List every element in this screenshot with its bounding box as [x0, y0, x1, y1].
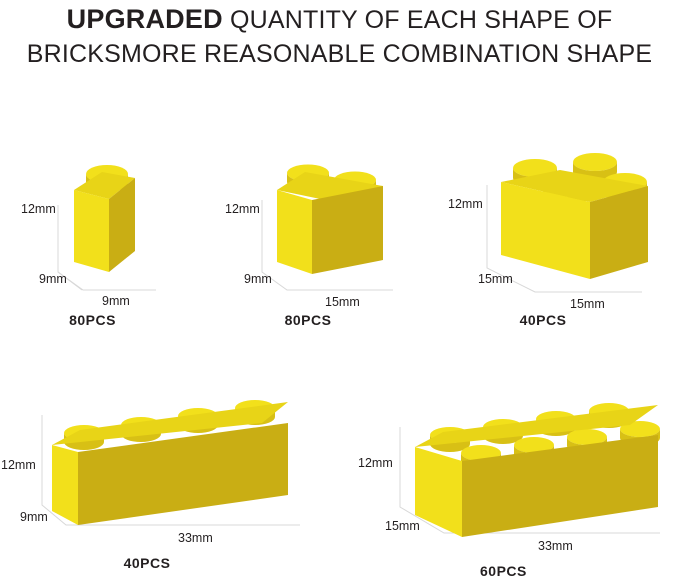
- brick-card-1x4: 12mm 9mm 33mm 40PCS: [0, 385, 330, 583]
- brick-left-face: [74, 190, 109, 272]
- brick-illustration-1x1: 12mm 9mm 9mm: [8, 150, 193, 335]
- brick-illustration-2x2: 12mm 15mm 15mm: [435, 140, 675, 335]
- dim-width-label: 9mm: [102, 294, 130, 308]
- dim-width-label: 15mm: [570, 297, 605, 311]
- pcs-label-1x4: 40PCS: [0, 555, 312, 571]
- title-upgraded: UPGRADED: [67, 4, 223, 34]
- brick-left-face: [415, 447, 462, 537]
- dim-height-label: 12mm: [21, 202, 56, 216]
- dim-height-label: 12mm: [358, 456, 393, 470]
- dim-depth-label: 9mm: [39, 272, 67, 286]
- brick-card-1x1: 12mm 9mm 9mm 80PCS: [8, 150, 193, 335]
- dim-height-label: 12mm: [225, 202, 260, 216]
- brick-illustration-1x2: 12mm 9mm 15mm: [215, 150, 425, 335]
- dim-width-label: 33mm: [538, 539, 573, 553]
- title-line-1: UPGRADED QUANTITY OF EACH SHAPE OF: [0, 4, 679, 39]
- dim-width-label: 15mm: [325, 295, 360, 309]
- dim-height-label: 12mm: [1, 458, 36, 472]
- dim-depth-label: 9mm: [244, 272, 272, 286]
- dim-depth-label: 15mm: [385, 519, 420, 533]
- pcs-label-1x2: 80PCS: [203, 312, 413, 328]
- pcs-label-2x2: 40PCS: [423, 312, 663, 328]
- brick-card-2x2: 12mm 15mm 15mm 40PCS: [435, 140, 675, 335]
- title-line-2: BRICKSMORE REASONABLE COMBINATION SHAPE: [0, 39, 679, 69]
- pcs-label-2x4: 60PCS: [480, 563, 527, 579]
- brick-left-face: [52, 445, 78, 525]
- brick-card-2x4: 12mm 15mm 33mm 60PCS: [340, 385, 679, 583]
- brick-front-face: [312, 186, 383, 274]
- brick-card-1x2: 12mm 9mm 15mm 80PCS: [215, 150, 425, 335]
- brick-illustration-1x4: 12mm 9mm 33mm: [0, 385, 330, 583]
- dim-width-label: 33mm: [178, 531, 213, 545]
- pcs-label-1x1: 80PCS: [0, 312, 185, 328]
- title-line-1-rest: QUANTITY OF EACH SHAPE OF: [223, 6, 613, 34]
- stud-top: [573, 153, 617, 171]
- dim-depth-label: 9mm: [20, 510, 48, 524]
- page-title: UPGRADED QUANTITY OF EACH SHAPE OF BRICK…: [0, 4, 679, 69]
- brick-front-face: [590, 186, 648, 279]
- brick-left-face: [277, 190, 312, 274]
- brick-illustration-2x4: 12mm 15mm 33mm: [340, 385, 679, 583]
- dim-height-label: 12mm: [448, 197, 483, 211]
- dim-depth-label: 15mm: [478, 272, 513, 286]
